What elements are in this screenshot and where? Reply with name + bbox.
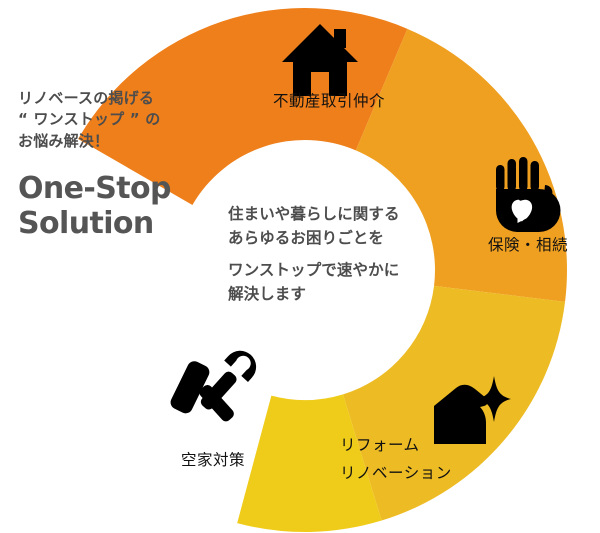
center-para2-line2: 解決します xyxy=(228,283,458,307)
headline-line-1: One-Stop xyxy=(18,171,218,206)
hammer-wrench-icon xyxy=(155,344,262,444)
segment-label-reform-line2: リノベーション xyxy=(340,464,452,482)
headline-line-2: Solution xyxy=(18,206,218,241)
segment-label-vacant-house: 空家対策 xyxy=(181,451,245,469)
left-text-block: リノベースの掲げる “ ワンストップ ” の お悩み解決！ One-Stop S… xyxy=(18,88,218,242)
center-text-block: 住まいや暮らしに関する あらゆるお困りごとを ワンストップで速やかに 解決します xyxy=(228,203,458,306)
segment-label-insurance: 保険・相続 xyxy=(488,236,568,254)
page-title: One-Stop Solution xyxy=(18,171,218,242)
lead-line-3: お悩み解決！ xyxy=(18,131,218,152)
center-para1-line1: 住まいや暮らしに関する xyxy=(228,203,458,227)
one-stop-solution-infographic: 不動産取引仲介 保険・相続 リフォーム リノベーション 空家対策 リノベースの掲… xyxy=(0,0,600,533)
lead-line-2: “ ワンストップ ” の xyxy=(18,109,218,130)
segment-label-reform-line1: リフォーム xyxy=(340,436,420,454)
center-para1-line2: あらゆるお困りごとを xyxy=(228,227,458,251)
lead-line-1: リノベースの掲げる xyxy=(18,88,218,109)
center-para2-line1: ワンストップで速やかに xyxy=(228,259,458,283)
segment-label-real-estate: 不動産取引仲介 xyxy=(273,92,385,110)
